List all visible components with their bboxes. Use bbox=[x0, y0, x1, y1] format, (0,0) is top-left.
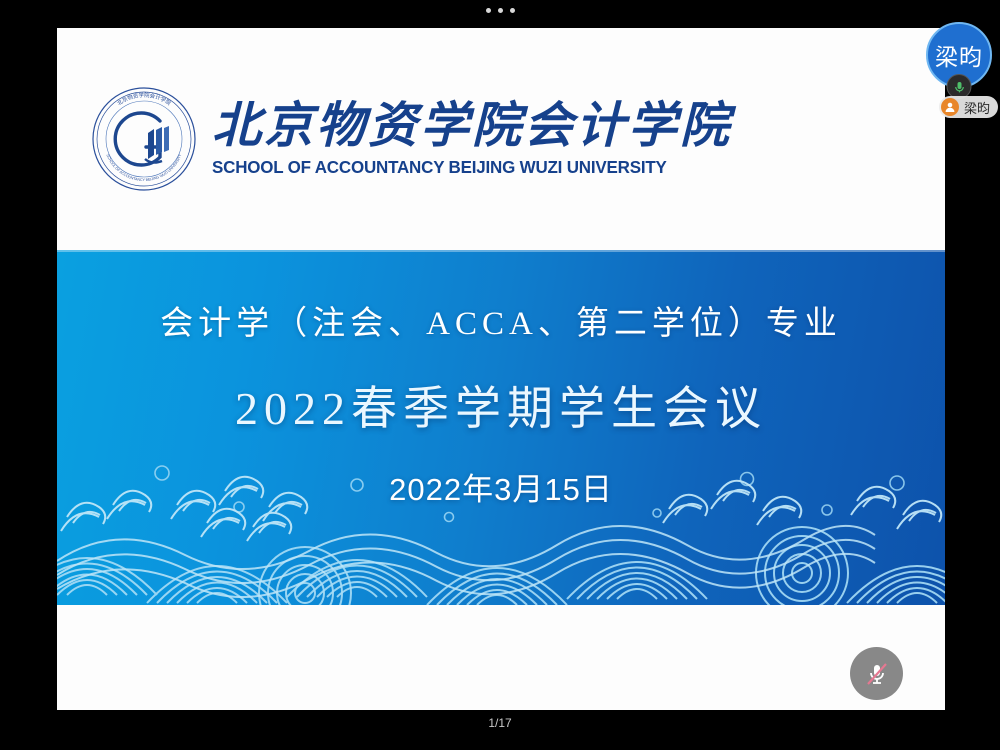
slide-footer bbox=[57, 605, 945, 710]
microphone-icon bbox=[952, 80, 966, 94]
slide-main-title: 2022春季学期学生会议 bbox=[57, 372, 945, 438]
participant-name: 梁昀 bbox=[964, 98, 990, 117]
dot-icon bbox=[486, 8, 491, 13]
slide-canvas[interactable]: 北京物资学院会计学院 SCHOOL OF ACCOUNTANCY BEIJING… bbox=[57, 28, 945, 710]
slide-title-text: 会计学（注会、ACCA、第二学位）专业 2022春季学期学生会议 2022年3月… bbox=[57, 250, 945, 509]
university-emblem-icon: 北京物资学院会计学院 SCHOOL OF ACCOUNTANCY BEIJING… bbox=[90, 85, 198, 193]
slide-header: 北京物资学院会计学院 SCHOOL OF ACCOUNTANCY BEIJING… bbox=[57, 28, 945, 250]
slide-title-band: 会计学（注会、ACCA、第二学位）专业 2022春季学期学生会议 2022年3月… bbox=[57, 250, 945, 605]
presentation-viewer: 北京物资学院会计学院 SCHOOL OF ACCOUNTANCY BEIJING… bbox=[0, 0, 1000, 750]
university-english-name: SCHOOL OF ACCOUNTANCY BEIJING WUZI UNIVE… bbox=[212, 157, 716, 178]
svg-text:北京物资学院会计学院: 北京物资学院会计学院 bbox=[115, 91, 173, 107]
slide-date: 2022年3月15日 bbox=[57, 464, 945, 509]
mute-button[interactable] bbox=[850, 647, 903, 700]
participant-avatar[interactable]: 梁昀 bbox=[926, 22, 992, 88]
microphone-muted-icon bbox=[864, 661, 890, 687]
page-indicator: 1/17 bbox=[0, 716, 1000, 730]
person-icon bbox=[941, 98, 959, 116]
avatar-initials: 梁昀 bbox=[935, 38, 983, 72]
logo-text-block: 北京物资学院会计学院 SCHOOL OF ACCOUNTANCY BEIJING… bbox=[212, 100, 732, 177]
dot-icon bbox=[510, 8, 515, 13]
slide-subtitle-line: 会计学（注会、ACCA、第二学位）专业 bbox=[57, 296, 945, 344]
participant-nametag: 梁昀 bbox=[939, 96, 998, 118]
more-options-dots[interactable] bbox=[0, 8, 1000, 13]
dot-icon bbox=[498, 8, 503, 13]
university-chinese-name: 北京物资学院会计学院 bbox=[212, 100, 732, 151]
university-logo: 北京物资学院会计学院 SCHOOL OF ACCOUNTANCY BEIJING… bbox=[90, 85, 732, 193]
